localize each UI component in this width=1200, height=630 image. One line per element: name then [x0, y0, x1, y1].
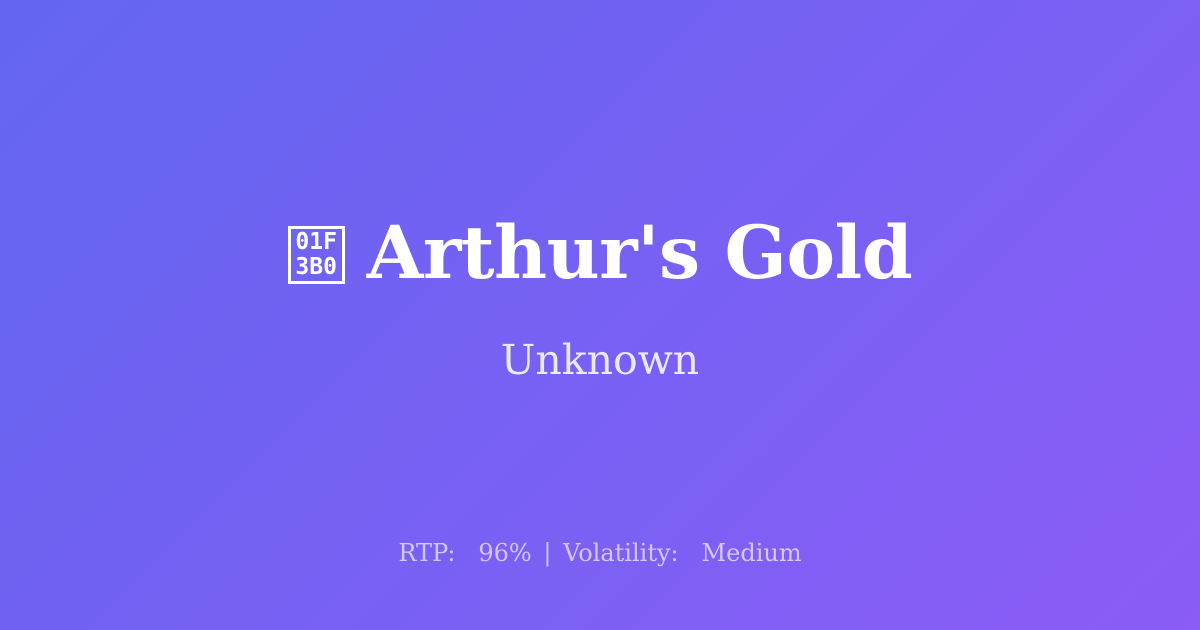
rtp-value: 96%: [478, 539, 531, 567]
tofu-codepoint-lower: 3B0: [295, 255, 337, 280]
slot-machine-icon: 01F 3B0: [288, 226, 345, 284]
stats-separator: |: [539, 539, 555, 567]
volatility-value: Medium: [702, 539, 802, 567]
rtp-label: RTP:: [398, 539, 455, 567]
provider-subtitle: Unknown: [501, 336, 699, 385]
page-title: Arthur's Gold: [367, 215, 913, 292]
volatility-label: Volatility:: [563, 539, 679, 567]
game-stats-line: RTP: 96% | Volatility: Medium: [0, 539, 1200, 568]
tofu-codepoint-upper: 01F: [295, 230, 337, 255]
title-row: 01F 3B0 Arthur's Gold: [288, 215, 913, 292]
hero-block: 01F 3B0 Arthur's Gold Unknown: [0, 0, 1200, 630]
og-preview-card: 01F 3B0 Arthur's Gold Unknown RTP: 96% |…: [0, 0, 1200, 630]
